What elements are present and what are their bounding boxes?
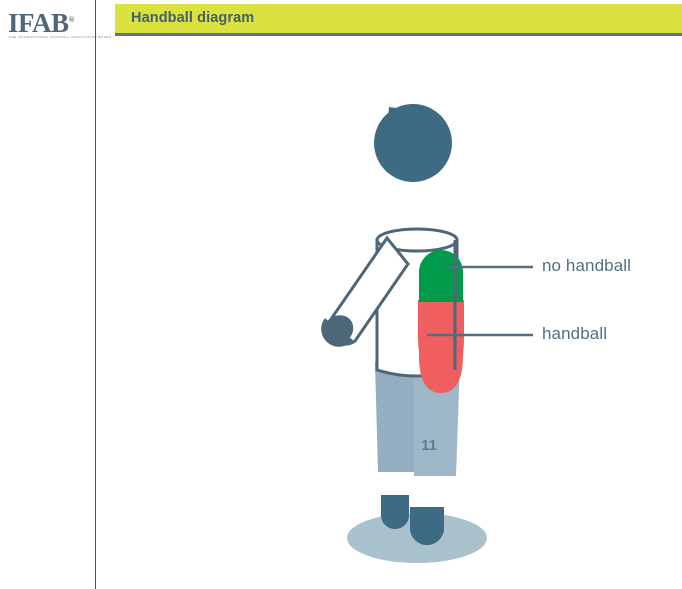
handball-region-lower [418,300,464,382]
player-figure-illustration: 11 [115,40,682,589]
logo-subtitle: THE INTERNATIONAL FOOTBALL ASSOCIATION B… [9,35,112,39]
page-title: Handball diagram [131,10,254,26]
handball-diagram: 11 no handball handball [115,40,682,589]
header-underline [115,33,682,36]
registered-mark-icon: ® [69,15,75,24]
head-shape [374,104,452,182]
label-no-handball: no handball [542,256,631,276]
label-handball: handball [542,324,607,344]
ifab-logo: IFAB® THE INTERNATIONAL FOOTBALL ASSOCIA… [8,6,92,40]
sock-back-foot [381,495,409,529]
sock-front-foot [410,507,444,545]
shorts-number: 11 [421,437,437,454]
logo-wordmark-text: IFAB [8,8,69,38]
header-bar: Handball diagram [115,4,682,33]
vertical-divider [95,0,96,589]
shorts-back-panel [375,362,414,472]
logo-wordmark: IFAB® [8,6,75,37]
